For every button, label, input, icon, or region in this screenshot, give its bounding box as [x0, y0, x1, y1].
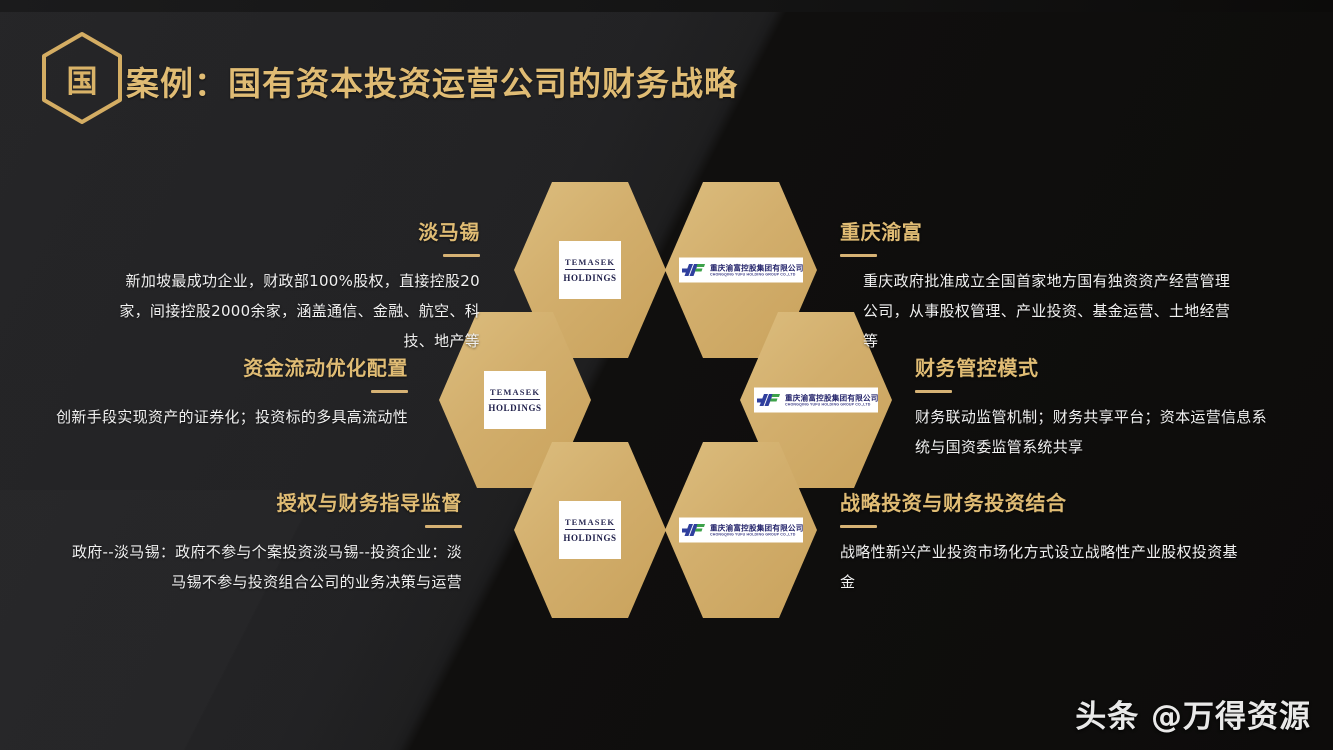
text-block-chongqing-yufu-overview: 重庆渝富 重庆政府批准成立全国首家地方国有独资资产经营管理公司，从事股权管理、产…: [840, 216, 1240, 356]
yufu-logo-en: CHONGQING YUFU HOLDING GROUP CO.,LTD: [785, 402, 879, 407]
heading-rule: [915, 390, 952, 393]
heading-rule: [840, 254, 877, 257]
hexagon-bottom-left[interactable]: TEMASEK HOLDINGS: [514, 442, 666, 618]
yufu-logo-cn: 重庆渝富控股集团有限公司: [785, 393, 879, 402]
text-block-financial-control-model: 财务管控模式 财务联动监管机制；财务共享平台；资本运营信息系统与国资委监管系统共…: [915, 352, 1275, 462]
block-body: 财务联动监管机制；财务共享平台；资本运营信息系统与国资委监管系统共享: [915, 402, 1275, 462]
block-heading: 重庆渝富: [840, 216, 1240, 245]
yufu-mark-icon: [682, 523, 706, 538]
yufu-logo-en: CHONGQING YUFU HOLDING GROUP CO.,LTD: [710, 272, 804, 277]
heading-rule: [840, 525, 877, 528]
temasek-logo: TEMASEK HOLDINGS: [559, 501, 621, 559]
block-heading: 授权与财务指导监督: [62, 487, 462, 516]
block-heading: 战略投资与财务投资结合: [840, 487, 1240, 516]
yufu-mark-icon: [757, 393, 781, 408]
temasek-logo-line1: TEMASEK: [490, 387, 540, 400]
block-body: 政府--淡马锡：政府不参与个案投资淡马锡--投资企业：淡马锡不参与投资组合公司的…: [62, 537, 462, 597]
heading-rule: [443, 254, 480, 257]
temasek-logo-line2: HOLDINGS: [488, 402, 541, 414]
yufu-logo-en: CHONGQING YUFU HOLDING GROUP CO.,LTD: [710, 532, 804, 537]
block-body: 创新手段实现资产的证券化；投资标的多具高流动性: [40, 402, 408, 432]
heading-rule: [425, 525, 462, 528]
block-heading: 淡马锡: [100, 216, 480, 245]
watermark: 头条 @万得资源: [1075, 691, 1311, 736]
temasek-logo-line1: TEMASEK: [565, 257, 615, 270]
temasek-logo: TEMASEK HOLDINGS: [484, 371, 546, 429]
yufu-logo: 重庆渝富控股集团有限公司 CHONGQING YUFU HOLDING GROU…: [679, 258, 803, 283]
yufu-logo: 重庆渝富控股集团有限公司 CHONGQING YUFU HOLDING GROU…: [754, 388, 878, 413]
yufu-logo-cn: 重庆渝富控股集团有限公司: [710, 523, 804, 532]
block-body: 新加坡最成功企业，财政部100%股权，直接控股20家，间接控股2000余家，涵盖…: [100, 266, 480, 356]
text-block-strategic-financial-investment: 战略投资与财务投资结合 战略性新兴产业投资市场化方式设立战略性产业股权投资基金: [840, 487, 1240, 597]
yufu-logo-cn: 重庆渝富控股集团有限公司: [710, 263, 804, 272]
block-body: 重庆政府批准成立全国首家地方国有独资资产经营管理公司，从事股权管理、产业投资、基…: [863, 266, 1240, 356]
block-heading: 财务管控模式: [915, 352, 1275, 381]
hexagon-bottom-right[interactable]: 重庆渝富控股集团有限公司 CHONGQING YUFU HOLDING GROU…: [665, 442, 817, 618]
heading-rule: [371, 390, 408, 393]
temasek-logo-line2: HOLDINGS: [563, 272, 616, 284]
slide-canvas: 国 案例：国有资本投资运营公司的财务战略 TEMASEK HOLDINGS: [0, 0, 1333, 750]
temasek-logo-line1: TEMASEK: [565, 517, 615, 530]
block-heading: 资金流动优化配置: [40, 352, 408, 381]
temasek-logo-line2: HOLDINGS: [563, 532, 616, 544]
block-body: 战略性新兴产业投资市场化方式设立战略性产业股权投资基金: [840, 537, 1240, 597]
text-block-temasek-overview: 淡马锡 新加坡最成功企业，财政部100%股权，直接控股20家，间接控股2000余…: [100, 216, 480, 356]
text-block-authorization-supervision: 授权与财务指导监督 政府--淡马锡：政府不参与个案投资淡马锡--投资企业：淡马锡…: [62, 487, 462, 597]
text-block-capital-liquidity: 资金流动优化配置 创新手段实现资产的证券化；投资标的多具高流动性: [40, 352, 408, 432]
yufu-mark-icon: [682, 263, 706, 278]
yufu-logo: 重庆渝富控股集团有限公司 CHONGQING YUFU HOLDING GROU…: [679, 518, 803, 543]
temasek-logo: TEMASEK HOLDINGS: [559, 241, 621, 299]
